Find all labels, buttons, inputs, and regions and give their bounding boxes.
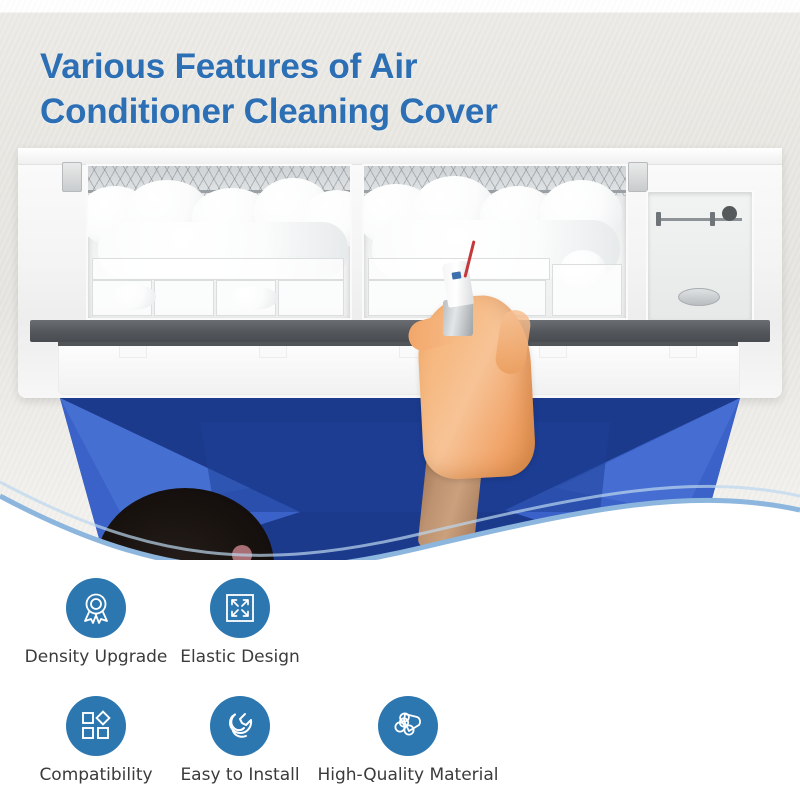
ac-front-panel [58, 346, 740, 395]
product-infographic: Various Features of Air Conditioner Clea… [0, 0, 800, 800]
air-conditioner-unit [18, 148, 782, 398]
panel-tab [119, 346, 147, 358]
feature-label: High-Quality Material [310, 765, 506, 785]
fabric-rolls-icon [391, 709, 425, 743]
feature-density-upgrade[interactable]: Density Upgrade [20, 578, 172, 667]
ac-vent-grille [552, 264, 622, 316]
feature-compatibility[interactable]: Compatibility [20, 696, 172, 785]
panel-tab [259, 346, 287, 358]
feature-icon-circle [210, 578, 270, 638]
feature-icon-circle [378, 696, 438, 756]
ac-coil-slat [92, 258, 344, 280]
feature-easy-to-install[interactable]: Easy to Install [170, 696, 310, 785]
ac-open-panel-right [362, 164, 628, 320]
panel-tab [539, 346, 567, 358]
control-pin [656, 212, 661, 226]
feature-icon-circle [66, 696, 126, 756]
feature-label: Easy to Install [170, 765, 310, 785]
ac-coil-slat [154, 280, 214, 316]
panel-tab [669, 346, 697, 358]
control-knob [722, 206, 737, 221]
hero-photo: Various Features of Air Conditioner Clea… [0, 0, 800, 560]
ac-open-panel-left [86, 164, 352, 320]
aerosol-can-label [452, 271, 462, 279]
feature-label: Compatibility [20, 765, 172, 785]
feature-high-quality-material[interactable]: High-Quality Material [310, 696, 506, 785]
ac-control-compartment [646, 190, 754, 322]
features-section: Density Upgrade Elastic Design [0, 560, 800, 800]
shapes-grid-icon [80, 710, 112, 742]
feature-elastic-design[interactable]: Elastic Design [170, 578, 310, 667]
control-fan-vent [678, 288, 720, 306]
control-pin [710, 212, 715, 226]
feature-icon-circle [66, 578, 126, 638]
title-line-2: Conditioner Cleaning Cover [40, 89, 600, 134]
wrench-icon [223, 709, 257, 743]
panel-hinge-clip-left [62, 162, 82, 192]
feature-icon-circle [210, 696, 270, 756]
feature-label: Elastic Design [170, 647, 310, 667]
ribbon-badge-icon [79, 591, 113, 625]
expand-arrows-icon [223, 591, 257, 625]
wave-divider [0, 452, 800, 560]
ac-coil-slat [278, 280, 344, 316]
ac-louver-bar [30, 320, 770, 342]
foam-blob [112, 284, 156, 310]
panel-hinge-clip-right [628, 162, 648, 192]
page-title: Various Features of Air Conditioner Clea… [40, 44, 600, 134]
feature-label: Density Upgrade [20, 647, 172, 667]
title-line-1: Various Features of Air [40, 44, 600, 89]
ac-top-lip [18, 148, 782, 165]
foam-blob [228, 286, 278, 310]
